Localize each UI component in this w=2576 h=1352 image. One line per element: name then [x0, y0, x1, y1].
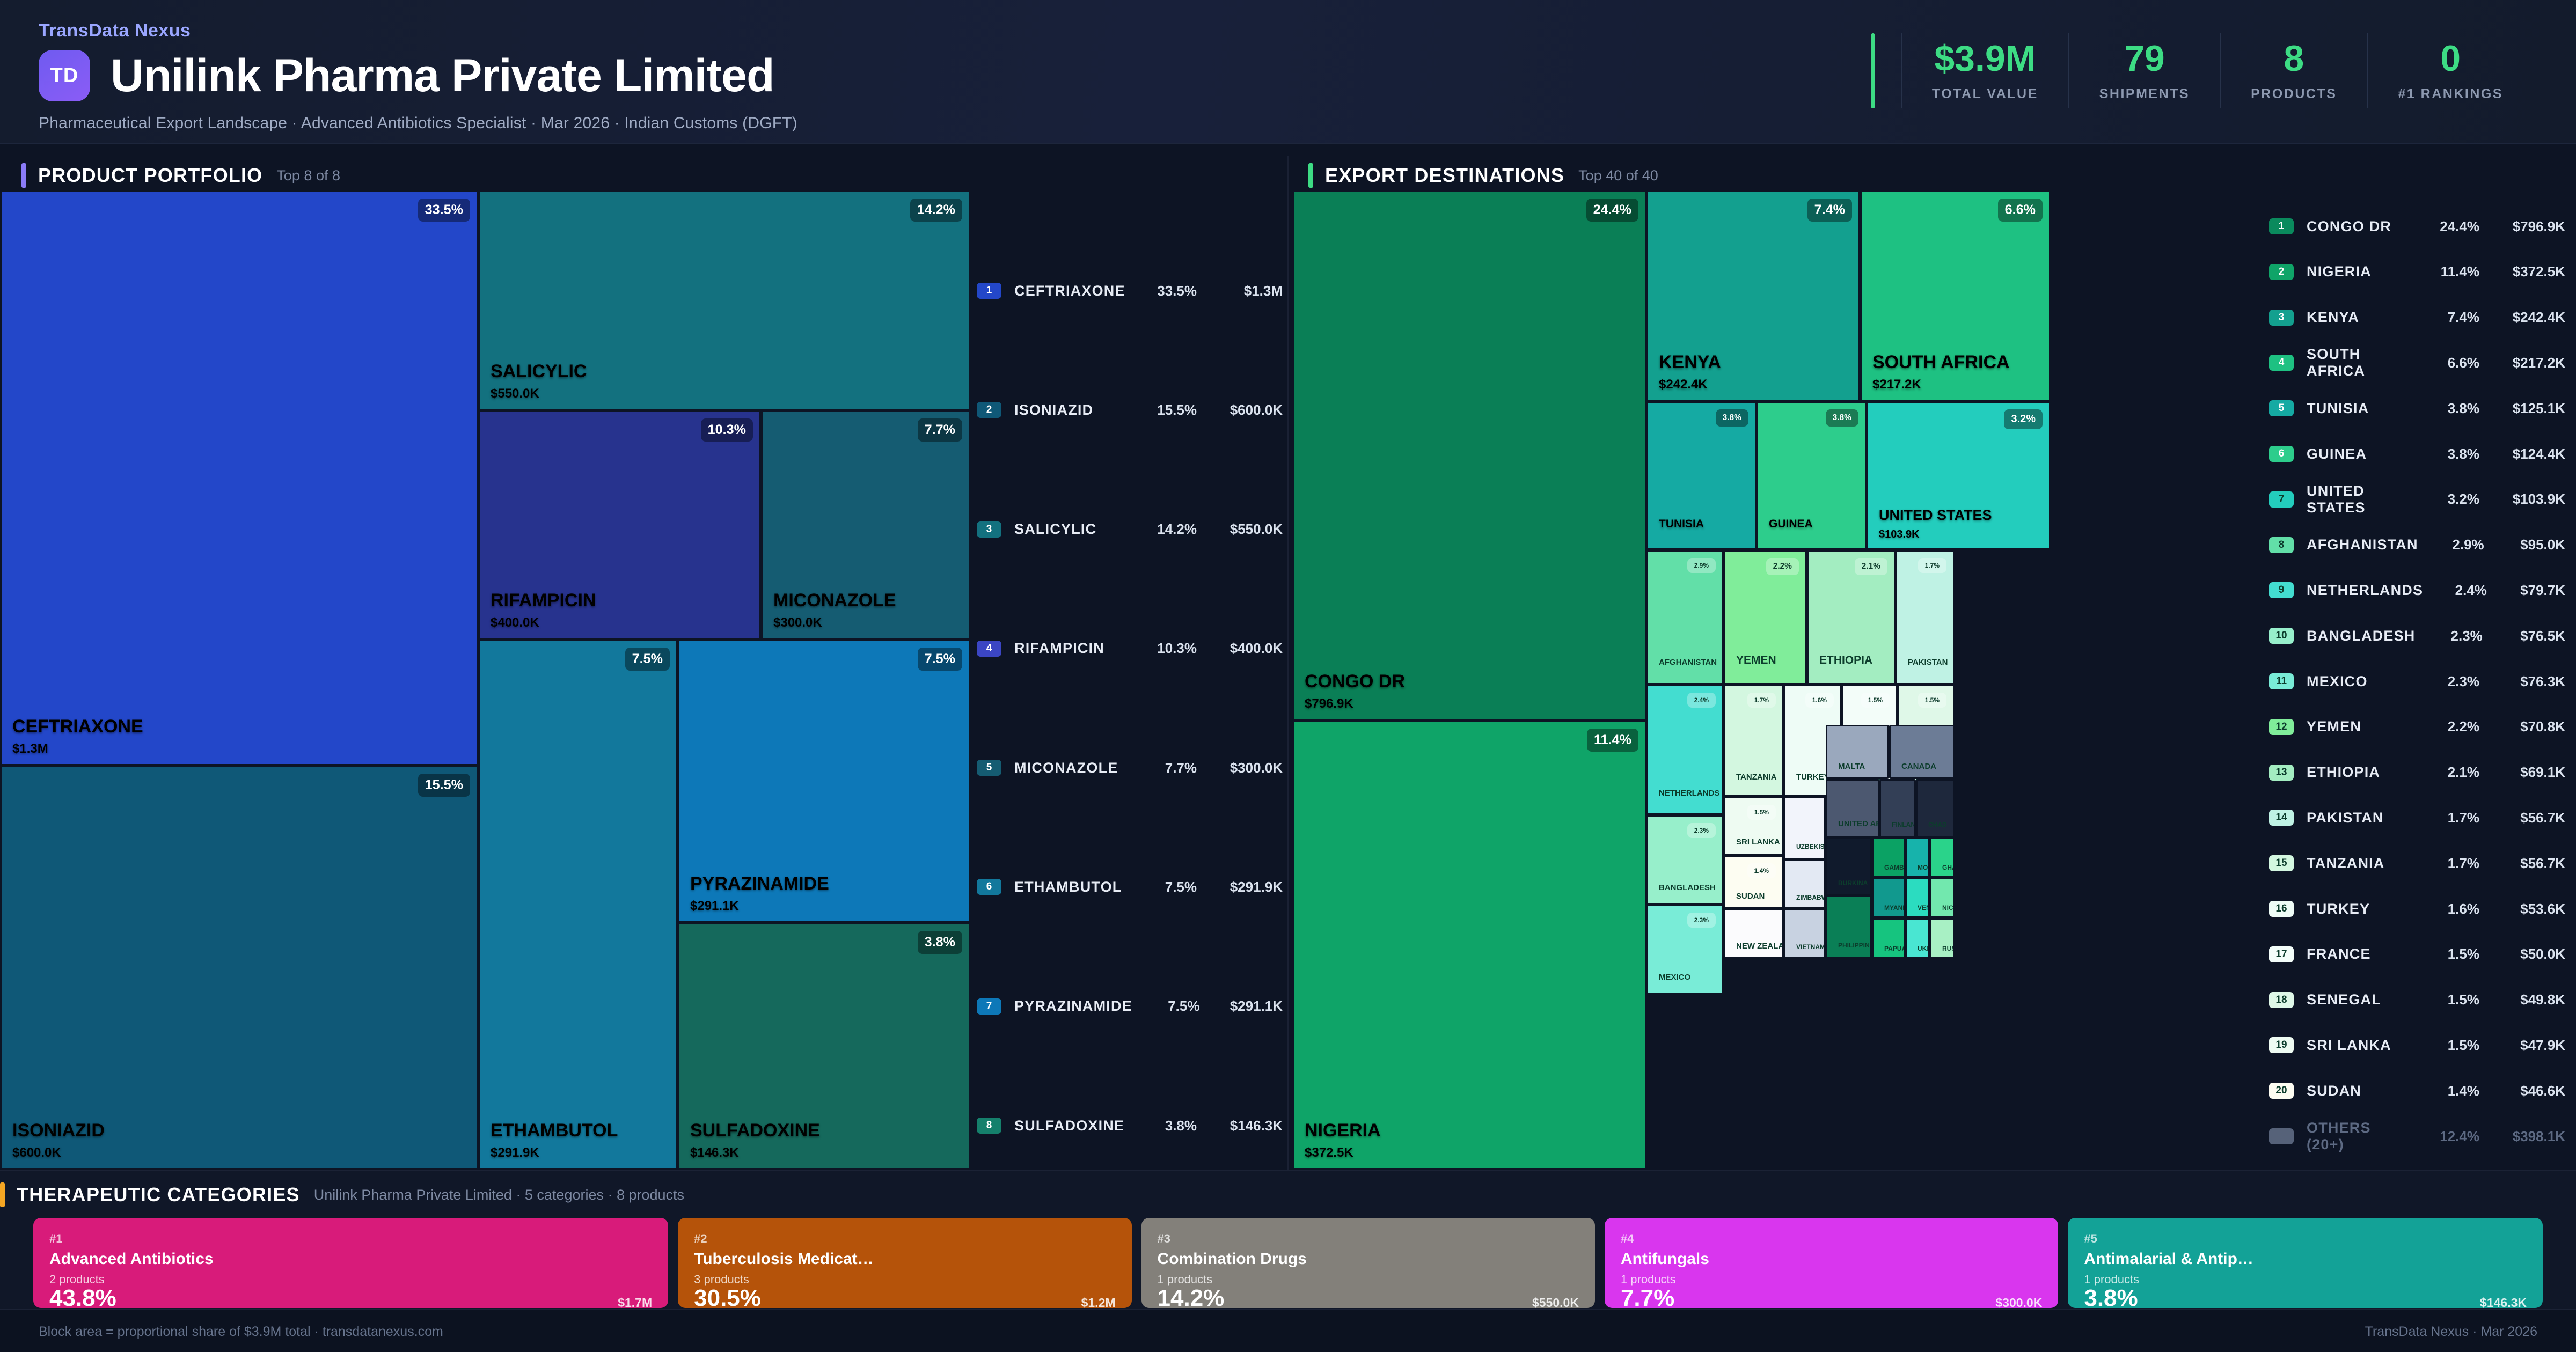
treemap-tile[interactable]: 1.7%PAKISTAN [1896, 550, 1955, 685]
category-percent: 14.2% [1158, 1287, 1225, 1310]
tile-value: $291.9K [491, 1145, 539, 1160]
rank-name: GUINEA [2307, 446, 2410, 462]
treemap-tile[interactable]: VENEZUELA [1905, 878, 1930, 918]
rank-percent: 7.4% [2410, 309, 2479, 326]
stat-value: $3.9M [1934, 40, 2036, 77]
tile-percent-badge: 7.4% [1807, 199, 1852, 222]
rank-row[interactable]: 17FRANCE1.5%$50.0K [2269, 943, 2565, 966]
stats-accent-bar [1871, 33, 1875, 108]
rank-row[interactable]: 1CEFTRIAXONE33.5%$1.3M [977, 279, 1283, 303]
rank-value: $398.1K [2479, 1128, 2565, 1145]
tile-label: ISONIAZID [12, 1120, 105, 1141]
rank-percent: 7.7% [1127, 760, 1197, 776]
rank-value: $53.6K [2479, 901, 2565, 917]
rank-name: YEMEN [2307, 718, 2410, 735]
rank-row[interactable]: 7UNITED STATES3.2%$103.9K [2269, 488, 2565, 511]
rank-name: SENEGAL [2307, 991, 2410, 1008]
rank-percent: 2.3% [2416, 628, 2483, 644]
product-rank-list[interactable]: 1CEFTRIAXONE33.5%$1.3M2ISONIAZID15.5%$60… [977, 279, 1283, 1137]
rank-badge: 1 [977, 283, 1001, 299]
rank-percent: 1.7% [2410, 810, 2479, 826]
rank-value: $76.5K [2483, 628, 2565, 644]
treemap-tile[interactable]: 1.7%TANZANIA [1724, 685, 1784, 797]
rank-badge: 4 [2269, 355, 2294, 371]
tile-label: CHAD [1928, 821, 1947, 828]
rank-value: $70.8K [2479, 718, 2565, 735]
rank-name: TURKEY [2307, 901, 2410, 917]
rank-value: $291.1K [1199, 998, 1283, 1015]
category-card[interactable]: #1Advanced Antibiotics2 products43.8%$1.… [33, 1218, 668, 1308]
tile-label: MEXICO [1659, 973, 1690, 982]
treemap-tile[interactable]: 2.4%NETHERLANDS [1646, 685, 1724, 815]
rank-percent: 12.4% [2410, 1128, 2479, 1145]
treemap-tile[interactable]: PAPUA NEW GUINEA [1872, 918, 1905, 958]
rank-value: $124.4K [2479, 446, 2565, 462]
treemap-tile[interactable]: 2.1%ETHIOPIA [1807, 550, 1896, 685]
treemap-tile[interactable]: MOZAMBIQUE [1905, 837, 1930, 878]
rank-percent: 2.9% [2418, 537, 2484, 553]
rank-percent: 1.5% [2410, 1037, 2479, 1054]
rank-badge: 7 [977, 998, 1001, 1015]
treemap-tile[interactable]: PHILIPPINES [1826, 895, 1872, 958]
rank-value: $95.0K [2484, 537, 2565, 553]
rank-row[interactable]: 4RIFAMPICIN10.3%$400.0K [977, 637, 1283, 660]
rank-value: $47.9K [2479, 1037, 2565, 1054]
treemap-tile[interactable]: GAMBIA [1872, 837, 1905, 878]
panel-title: EXPORT DESTINATIONS [1325, 164, 1564, 187]
tile-label: PHILIPPINES [1838, 942, 1872, 949]
rank-badge: 8 [2269, 537, 2294, 553]
rank-name: SUDAN [2307, 1083, 2410, 1099]
panel-title: THERAPEUTIC CATEGORIES [17, 1184, 300, 1206]
rank-row[interactable]: 19SRI LANKA1.5%$47.9K [2269, 1033, 2565, 1057]
rank-badge: 16 [2269, 901, 2294, 917]
rank-name: NIGERIA [2307, 263, 2410, 280]
tile-percent-badge: 15.5% [418, 774, 470, 797]
category-card[interactable]: #5Antimalarial & Antip…1 products3.8%$14… [2068, 1218, 2543, 1308]
category-card[interactable]: #2Tuberculosis Medicat…3 products30.5%$1… [678, 1218, 1131, 1308]
tile-percent-badge: 7.7% [918, 418, 962, 442]
rank-badge: 5 [977, 760, 1001, 776]
panel-subtitle: Unilink Pharma Private Limited · 5 categ… [314, 1187, 684, 1203]
tile-label: GUINEA [1769, 518, 1813, 531]
rank-row[interactable]: 18SENEGAL1.5%$49.8K [2269, 988, 2565, 1012]
page-footer: Block area = proportional share of $3.9M… [0, 1309, 2576, 1352]
category-value: $300.0K [1995, 1296, 2042, 1310]
treemap-tile[interactable]: 6.6%SOUTH AFRICA$217.2K [1860, 190, 2051, 401]
rank-row[interactable]: 13ETHIOPIA2.1%$69.1K [2269, 761, 2565, 784]
treemap-tile[interactable]: 2.3%MEXICO [1646, 905, 1724, 994]
rank-name: ISONIAZID [1014, 402, 1127, 418]
tile-label: CANADA [1901, 762, 1936, 771]
treemap-tile[interactable]: 3.8%GUINEA [1757, 401, 1867, 549]
category-name: Antifungals [1621, 1250, 2042, 1268]
tile-label: TANZANIA [1736, 773, 1777, 782]
rank-name: TANZANIA [2307, 855, 2410, 872]
tile-percent-badge: 1.5% [1747, 805, 1776, 820]
export-treemap[interactable]: 24.4%CONGO DR$796.9K11.4%NIGERIA$372.5K7… [1292, 190, 1955, 1170]
category-percent: 3.8% [2084, 1287, 2138, 1310]
rank-name: UNITED STATES [2307, 483, 2410, 516]
rank-row[interactable]: 5MICONAZOLE7.7%$300.0K [977, 756, 1283, 780]
tile-value: $600.0K [12, 1145, 61, 1160]
category-rank: #1 [49, 1232, 652, 1246]
rank-badge: 17 [2269, 946, 2294, 962]
tile-label: AFGHANISTAN [1659, 658, 1717, 667]
rank-name: MICONAZOLE [1014, 760, 1127, 776]
rank-value: $125.1K [2479, 400, 2565, 417]
category-value: $1.2M [1081, 1296, 1116, 1310]
rank-badge: 2 [2269, 264, 2294, 280]
tile-label: TUNISIA [1659, 518, 1704, 531]
tile-percent-badge: 1.5% [1861, 693, 1890, 708]
tile-label: SULFADOXINE [690, 1120, 820, 1141]
category-rank: #2 [694, 1232, 1115, 1246]
tile-label: SOUTH AFRICA [1872, 352, 2010, 373]
rank-value: $103.9K [2479, 491, 2565, 508]
rank-percent: 2.2% [2410, 718, 2479, 735]
treemap-tile[interactable]: NEW ZEALAND [1724, 909, 1784, 958]
category-percent: 7.7% [1621, 1287, 1674, 1310]
treemap-tile[interactable]: MYANMAR [1872, 878, 1905, 918]
tile-percent-badge: 24.4% [1586, 199, 1638, 222]
rank-badge: 20 [2269, 1083, 2294, 1099]
rank-row[interactable]: 20SUDAN1.4%$46.6K [2269, 1079, 2565, 1103]
stat-label: SHIPMENTS [2099, 86, 2190, 102]
panel-subtitle: Top 8 of 8 [276, 167, 340, 184]
rank-row[interactable]: 4SOUTH AFRICA6.6%$217.2K [2269, 351, 2565, 374]
rank-value: $49.8K [2479, 991, 2565, 1008]
tile-percent-badge: 1.6% [1805, 693, 1834, 708]
tile-label: UZBEKISTAN [1796, 843, 1826, 850]
tile-percent-badge: 2.3% [1687, 823, 1716, 838]
tile-value: $372.5K [1305, 1145, 1353, 1160]
rank-badge: 2 [977, 402, 1001, 418]
treemap-tile[interactable]: 3.8%TUNISIA [1646, 401, 1757, 549]
treemap-tile[interactable]: 2.2%YEMEN [1724, 550, 1807, 685]
app-header: TransData Nexus TD Unilink Pharma Privat… [0, 0, 2576, 144]
tile-label: PYRAZINAMIDE [690, 873, 829, 894]
rank-badge: 6 [977, 879, 1001, 895]
treemap-tile[interactable]: 2.9%AFGHANISTAN [1646, 550, 1724, 685]
tile-percent-badge: 7.5% [918, 648, 962, 671]
tile-label: RUSSIA [1942, 945, 1955, 952]
stat-total-value: $3.9MTOTAL VALUE [1901, 33, 2068, 108]
treemap-tile[interactable]: 33.5%CEFTRIAXONE$1.3M [0, 190, 478, 766]
stat-shipments: 79SHIPMENTS [2068, 33, 2220, 108]
tile-percent-badge: 2.1% [1855, 558, 1887, 575]
page-title: Unilink Pharma Private Limited [111, 53, 774, 99]
tile-label: TURKEY [1796, 773, 1829, 782]
tile-percent-badge: 3.8% [918, 931, 962, 954]
treemap-tile[interactable]: GHANA [1930, 837, 1955, 878]
treemap-tile[interactable]: 3.8%SULFADOXINE$146.3K [678, 923, 970, 1170]
stat-label: TOTAL VALUE [1932, 86, 2038, 102]
rank-badge [2269, 1128, 2294, 1144]
stat-value: 79 [2124, 40, 2165, 77]
rank-badge: 15 [2269, 855, 2294, 871]
category-card[interactable]: #4Antifungals1 products7.7%$300.0K [1605, 1218, 2058, 1308]
tile-value: $1.3M [12, 741, 48, 756]
rank-value: $400.0K [1197, 640, 1283, 657]
rank-badge: 13 [2269, 765, 2294, 781]
rank-name: CONGO DR [2307, 218, 2410, 235]
tile-label: VENEZUELA [1918, 904, 1930, 912]
rank-value: $600.0K [1197, 402, 1283, 418]
stat-products: 8PRODUCTS [2220, 33, 2367, 108]
rank-value: $372.5K [2479, 263, 2565, 280]
treemap-tile[interactable]: 10.3%RIFAMPICIN$400.0K [478, 410, 761, 640]
tile-percent-badge: 1.7% [1918, 558, 1946, 573]
tile-label: UNITED STATES [1879, 507, 1992, 524]
tile-label: NICARAGUA [1942, 904, 1955, 912]
rank-percent: 1.7% [2410, 855, 2479, 872]
category-name: Advanced Antibiotics [49, 1250, 652, 1268]
rank-name: ETHAMBUTOL [1014, 879, 1127, 895]
rank-row[interactable]: 1CONGO DR24.4%$796.9K [2269, 215, 2565, 238]
tile-label: NIGERIA [1305, 1120, 1381, 1141]
category-value: $1.7M [618, 1296, 652, 1310]
header-stats: $3.9MTOTAL VALUE79SHIPMENTS8PRODUCTS0#1 … [1871, 33, 2533, 108]
tile-value: $796.9K [1305, 696, 1353, 711]
rank-row[interactable]: 2NIGERIA11.4%$372.5K [2269, 260, 2565, 284]
rank-percent: 2.3% [2410, 673, 2479, 690]
treemap-tile[interactable]: BURKINA FASO [1826, 837, 1872, 896]
rank-percent: 1.5% [2410, 946, 2479, 962]
rank-value: $1.3M [1197, 283, 1283, 299]
rank-name: SULFADOXINE [1014, 1118, 1127, 1134]
treemap-tile[interactable]: VIETNAM [1784, 909, 1826, 958]
treemap-tile[interactable]: NICARAGUA [1930, 878, 1955, 918]
treemap-tile[interactable]: ZIMBABWE [1784, 859, 1826, 909]
therapeutic-categories-section: THERAPEUTIC CATEGORIES Unilink Pharma Pr… [0, 1170, 2576, 1309]
treemap-tile[interactable]: UZBEKISTAN [1784, 797, 1826, 859]
stat-label: #1 RANKINGS [2398, 86, 2503, 102]
tile-label: MOZAMBIQUE [1918, 864, 1930, 871]
category-percent: 30.5% [694, 1287, 761, 1310]
categories-header: THERAPEUTIC CATEGORIES Unilink Pharma Pr… [0, 1176, 684, 1214]
tile-label: MYANMAR [1884, 904, 1905, 912]
category-percent: 43.8% [49, 1287, 116, 1310]
rank-percent: 3.8% [2410, 446, 2479, 462]
stat-label: PRODUCTS [2251, 86, 2337, 102]
treemap-tile[interactable]: 7.5%ETHAMBUTOL$291.9K [478, 640, 678, 1170]
category-rank: #4 [1621, 1232, 2042, 1246]
rank-row[interactable]: 8AFGHANISTAN2.9%$95.0K [2269, 533, 2565, 557]
rank-value: $50.0K [2479, 946, 2565, 962]
tile-label: ETHAMBUTOL [491, 1120, 618, 1141]
tile-percent-badge: 2.2% [1766, 558, 1799, 575]
tile-percent-badge: 1.4% [1747, 863, 1776, 878]
logo-badge: TD [39, 50, 90, 101]
stat-value: 8 [2284, 40, 2304, 77]
rank-value: $56.7K [2479, 855, 2565, 872]
tile-percent-badge: 1.7% [1747, 693, 1776, 708]
tile-label: CEFTRIAXONE [12, 716, 143, 737]
rank-name: PYRAZINAMIDE [1014, 998, 1132, 1015]
tile-label: CONGO DR [1305, 671, 1405, 692]
treemap-tile[interactable]: 24.4%CONGO DR$796.9K [1292, 190, 1646, 721]
tile-label: PAPUA NEW GUINEA [1884, 945, 1905, 952]
treemap-tile[interactable]: UKRAINE [1905, 918, 1930, 958]
tile-percent-badge: 2.3% [1687, 913, 1716, 928]
stat-1-rankings: 0#1 RANKINGS [2367, 33, 2533, 108]
rank-value: $217.2K [2479, 355, 2565, 371]
rank-badge: 8 [977, 1118, 1001, 1134]
rank-badge: 18 [2269, 992, 2294, 1008]
tile-percent-badge: 2.9% [1687, 558, 1716, 573]
rank-row[interactable]: 3SALICYLIC14.2%$550.0K [977, 518, 1283, 541]
rank-row[interactable]: 11MEXICO2.3%$76.3K [2269, 670, 2565, 693]
tile-percent-badge: 3.8% [1826, 409, 1858, 427]
rank-row[interactable]: 8SULFADOXINE3.8%$146.3K [977, 1114, 1283, 1137]
panel-divider [1287, 156, 1289, 1170]
tile-label: GHANA [1942, 864, 1955, 871]
rank-percent: 10.3% [1127, 640, 1197, 657]
export-rank-list[interactable]: 1CONGO DR24.4%$796.9K2NIGERIA11.4%$372.5… [2269, 215, 2565, 1148]
treemap-tile[interactable]: 7.7%MICONAZOLE$300.0K [761, 410, 970, 640]
rank-name: KENYA [2307, 309, 2410, 326]
rank-row[interactable]: 10BANGLADESH2.3%$76.5K [2269, 624, 2565, 648]
treemap-tile[interactable]: 14.2%SALICYLIC$550.0K [478, 190, 970, 410]
rank-value: $56.7K [2479, 810, 2565, 826]
treemap-tile[interactable]: 2.3%BANGLADESH [1646, 815, 1724, 905]
rank-badge: 4 [977, 641, 1001, 657]
rank-percent: 1.4% [2410, 1083, 2479, 1099]
rank-name: RIFAMPICIN [1014, 640, 1127, 657]
tile-label: YEMEN [1736, 654, 1776, 667]
treemap-tile[interactable]: 11.4%NIGERIA$372.5K [1292, 721, 1646, 1170]
panel-accent-bar [0, 1182, 5, 1207]
tile-label: SRI LANKA [1736, 837, 1780, 847]
rank-percent: 7.5% [1127, 879, 1197, 895]
tile-value: $400.0K [491, 615, 539, 630]
treemap-tile[interactable]: 15.5%ISONIAZID$600.0K [0, 766, 478, 1170]
tile-label: SALICYLIC [491, 361, 587, 382]
treemap-tile[interactable]: FINLAND [1879, 779, 1916, 837]
category-name: Combination Drugs [1158, 1250, 1579, 1268]
treemap-tile[interactable]: MALTA [1826, 725, 1889, 778]
rank-badge: 11 [2269, 673, 2294, 689]
tile-percent-badge: 7.5% [625, 648, 670, 671]
rank-row[interactable]: 9NETHERLANDS2.4%$79.7K [2269, 578, 2565, 602]
tile-label: MICONAZOLE [773, 590, 896, 611]
rank-name: SRI LANKA [2307, 1037, 2410, 1054]
rank-badge: 1 [2269, 218, 2294, 234]
stat-value: 0 [2440, 40, 2461, 77]
rank-row[interactable]: 5TUNISIA3.8%$125.1K [2269, 396, 2565, 420]
rank-row[interactable]: 12YEMEN2.2%$70.8K [2269, 715, 2565, 739]
product-treemap[interactable]: 33.5%CEFTRIAXONE$1.3M15.5%ISONIAZID$600.… [0, 190, 970, 1170]
tile-label: GAMBIA [1884, 864, 1905, 871]
tile-label: RIFAMPICIN [491, 590, 596, 611]
rank-badge: 14 [2269, 810, 2294, 826]
rank-name: AFGHANISTAN [2307, 537, 2418, 553]
rank-name: SOUTH AFRICA [2307, 346, 2410, 379]
treemap-tile[interactable]: 1.5%SRI LANKA [1724, 797, 1784, 855]
category-value: $146.3K [2480, 1296, 2527, 1310]
tile-percent-badge: 10.3% [701, 418, 753, 442]
tile-label: MALTA [1838, 762, 1865, 771]
treemap-tile[interactable]: 7.5%PYRAZINAMIDE$291.1K [678, 640, 970, 922]
rank-badge: 7 [2269, 491, 2294, 508]
rank-name: ETHIOPIA [2307, 764, 2410, 781]
tile-value: $291.1K [690, 899, 739, 914]
category-card[interactable]: #3Combination Drugs1 products14.2%$550.0… [1141, 1218, 1595, 1308]
tile-value: $146.3K [690, 1145, 739, 1160]
tile-percent-badge: 6.6% [1998, 199, 2043, 222]
rank-percent: 33.5% [1127, 283, 1197, 299]
rank-name: MEXICO [2307, 673, 2410, 690]
treemap-tile[interactable]: 3.2%UNITED STATES$103.9K [1867, 401, 2051, 549]
tile-percent-badge: 11.4% [1587, 729, 1638, 752]
rank-row[interactable]: 3KENYA7.4%$242.4K [2269, 306, 2565, 329]
category-cards[interactable]: #1Advanced Antibiotics2 products43.8%$1.… [33, 1218, 2543, 1308]
rank-name: CEFTRIAXONE [1014, 283, 1127, 299]
treemap-tile[interactable]: CHAD [1916, 779, 1955, 837]
rank-percent: 3.2% [2410, 491, 2479, 508]
category-value: $550.0K [1532, 1296, 1579, 1310]
footer-source: TransData Nexus · Mar 2026 [2365, 1324, 2537, 1340]
rank-value: $46.6K [2479, 1083, 2565, 1099]
panel-accent-bar [1308, 163, 1313, 188]
rank-name: SALICYLIC [1014, 521, 1127, 538]
tile-value: $550.0K [491, 386, 539, 401]
rank-row[interactable]: 6ETHAMBUTOL7.5%$291.9K [977, 875, 1283, 899]
tile-value: $103.9K [1879, 528, 1920, 541]
rank-percent: 1.5% [2410, 991, 2479, 1008]
rank-name: PAKISTAN [2307, 810, 2410, 826]
tile-label: NEW ZEALAND [1736, 942, 1784, 951]
rank-percent: 6.6% [2410, 355, 2479, 371]
tile-percent-badge: 33.5% [418, 199, 470, 222]
treemap-tile[interactable]: CANADA [1889, 725, 1955, 778]
rank-badge: 9 [2269, 582, 2294, 598]
rank-row[interactable]: 6GUINEA3.8%$124.4K [2269, 442, 2565, 466]
tile-label: SUDAN [1736, 892, 1765, 901]
rank-percent: 2.1% [2410, 764, 2479, 781]
tile-value: $300.0K [773, 615, 822, 630]
brand-block: TransData Nexus TD Unilink Pharma Privat… [39, 20, 797, 133]
rank-row[interactable]: 16TURKEY1.6%$53.6K [2269, 897, 2565, 921]
tile-percent-badge: 2.4% [1687, 693, 1716, 708]
rank-value: $79.7K [2487, 582, 2565, 599]
rank-row[interactable]: 15TANZANIA1.7%$56.7K [2269, 851, 2565, 875]
category-name: Antimalarial & Antip… [2084, 1250, 2527, 1268]
rank-value: $242.4K [2479, 309, 2565, 326]
treemap-tile[interactable]: UNITED ARAB EMIRATES [1826, 779, 1879, 837]
rank-percent: 15.5% [1127, 402, 1197, 418]
tile-label: NETHERLANDS [1659, 789, 1719, 798]
rank-row[interactable]: 7PYRAZINAMIDE7.5%$291.1K [977, 995, 1283, 1018]
product-portfolio-header: PRODUCT PORTFOLIO Top 8 of 8 [21, 157, 340, 194]
tile-percent-badge: 14.2% [910, 199, 962, 222]
treemap-tile[interactable]: 1.4%SUDAN [1724, 855, 1784, 909]
rank-row[interactable]: 14PAKISTAN1.7%$56.7K [2269, 806, 2565, 829]
treemap-tile[interactable]: 7.4%KENYA$242.4K [1646, 190, 1860, 401]
rank-percent: 3.8% [1127, 1118, 1197, 1134]
rank-badge: 6 [2269, 446, 2294, 462]
treemap-tile[interactable]: RUSSIA [1930, 918, 1955, 958]
rank-row[interactable]: 2ISONIAZID15.5%$600.0K [977, 398, 1283, 422]
rank-percent: 14.2% [1127, 521, 1197, 538]
rank-badge: 3 [977, 521, 1001, 538]
category-name: Tuberculosis Medicat… [694, 1250, 1115, 1268]
rank-percent: 24.4% [2410, 218, 2479, 235]
rank-name: FRANCE [2307, 946, 2410, 962]
rank-row[interactable]: OTHERS (20+)12.4%$398.1K [2269, 1125, 2565, 1148]
rank-value: $300.0K [1197, 760, 1283, 776]
